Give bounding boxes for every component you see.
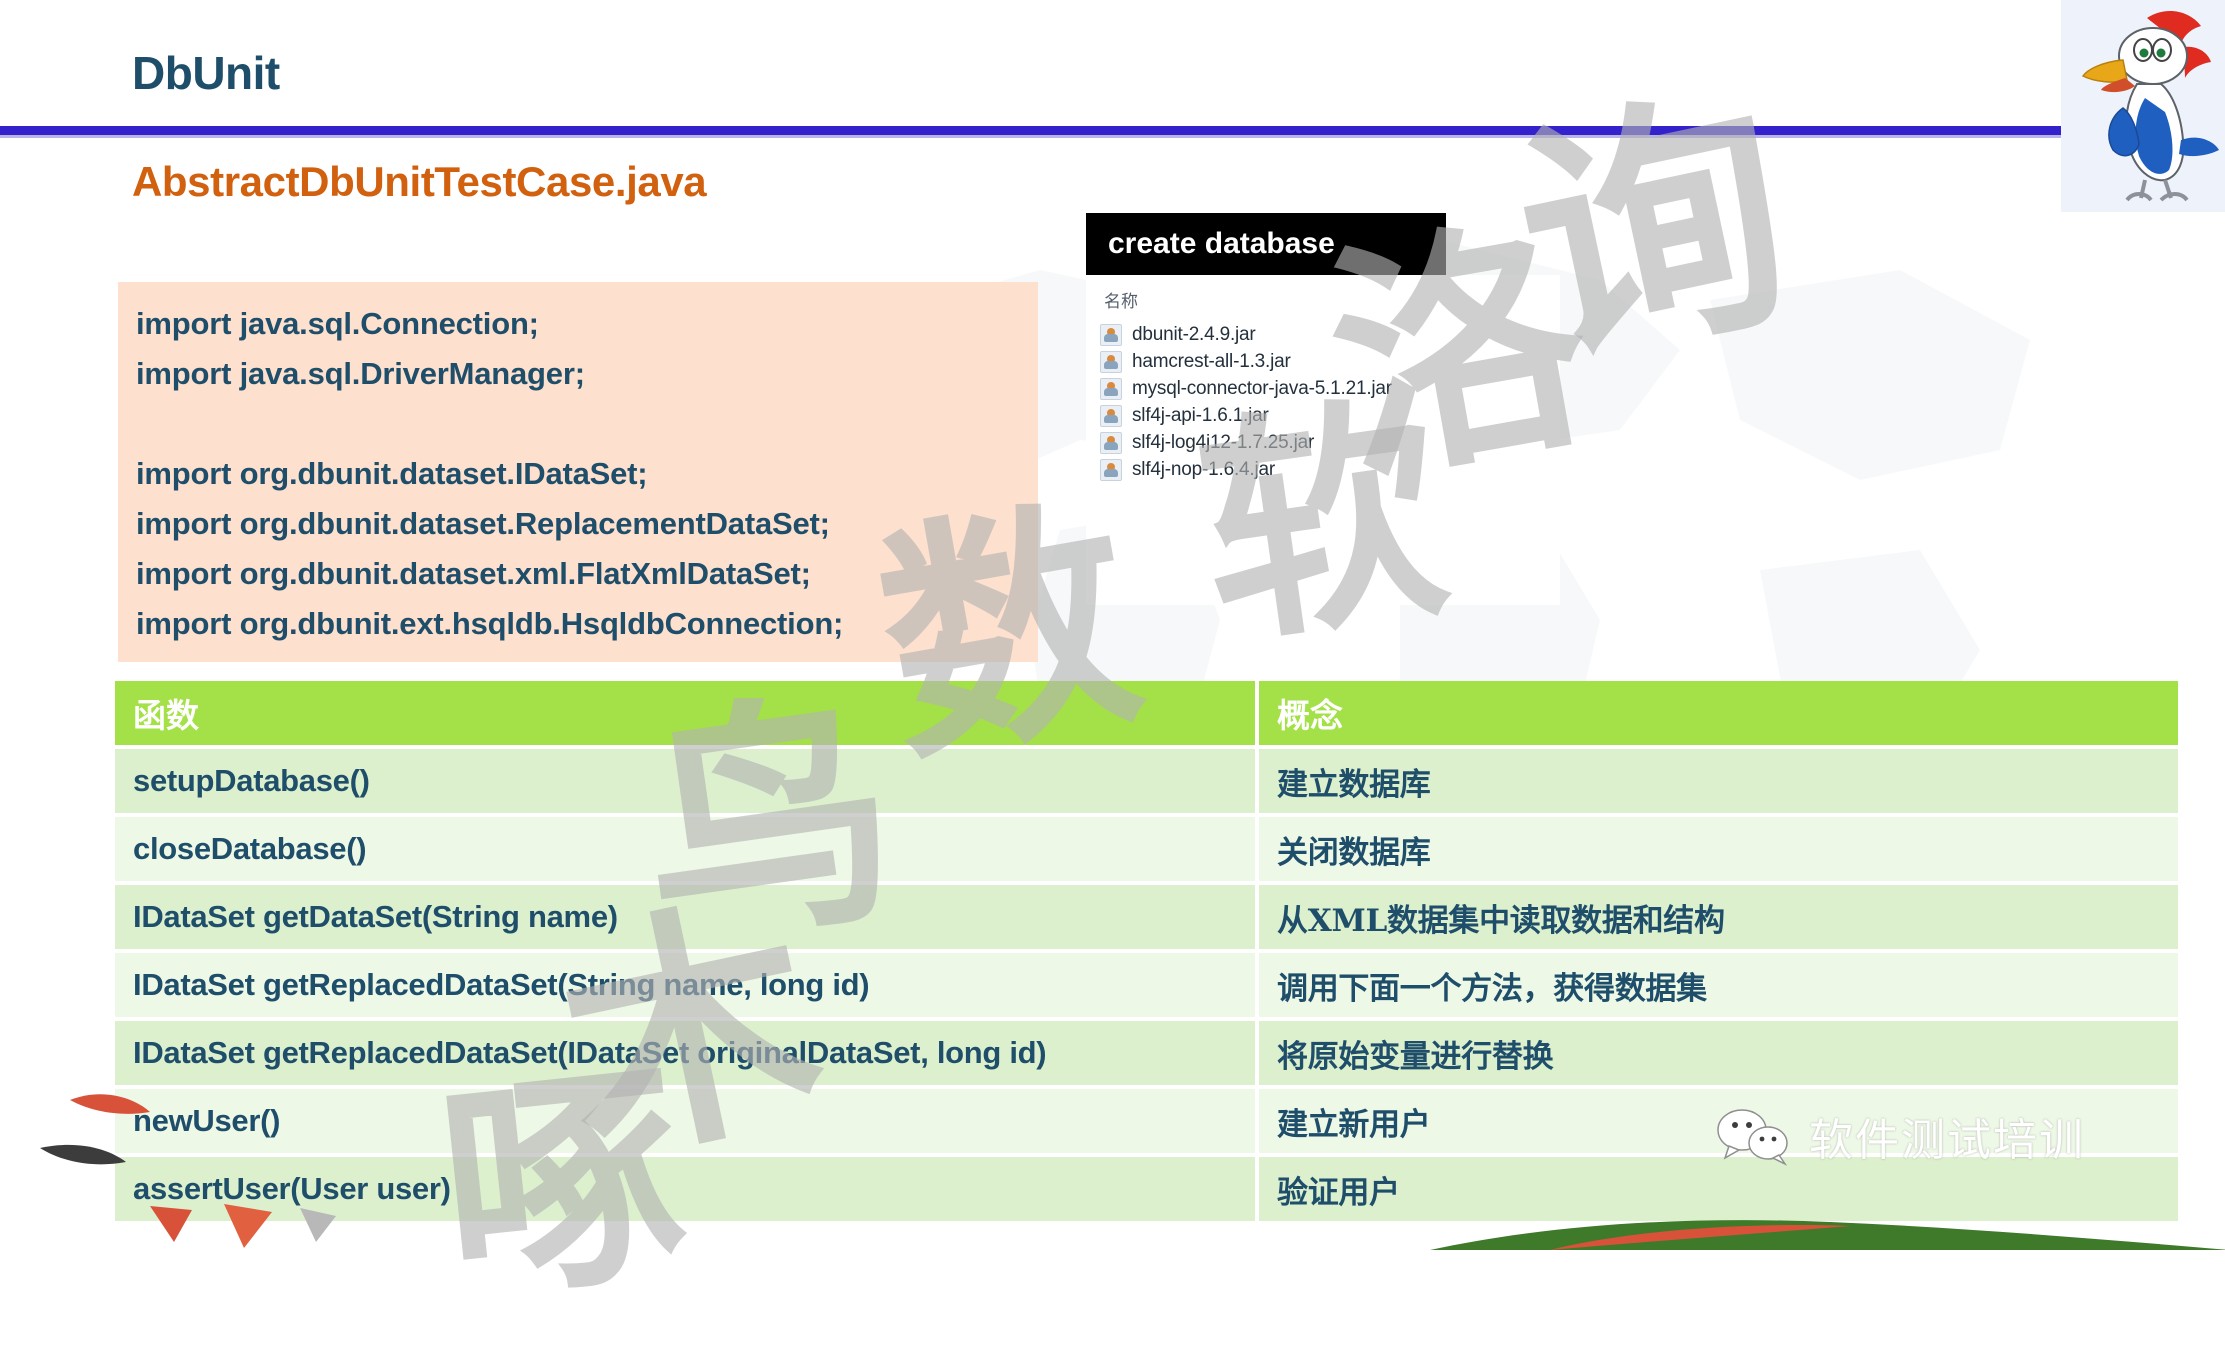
cell-function: setupDatabase() (115, 749, 1255, 817)
list-item[interactable]: mysql-connector-java-5.1.21.jar (1100, 375, 1392, 402)
page-title: DbUnit (132, 46, 280, 100)
file-name: hamcrest-all-1.3.jar (1132, 351, 1291, 373)
table-row: IDataSet getReplacedDataSet(IDataSet ori… (115, 1021, 2178, 1089)
file-name: mysql-connector-java-5.1.21.jar (1132, 378, 1392, 400)
code-line-6: import org.dbunit.dataset.xml.FlatXmlDat… (136, 556, 811, 592)
code-snippet-block: import java.sql.Connection; import java.… (118, 282, 1038, 662)
code-line-4: import org.dbunit.dataset.IDataSet; (136, 456, 647, 492)
cell-concept: 从XML数据集中读取数据和结构 (1255, 885, 2178, 953)
table-row: newUser() 建立新用户 (115, 1089, 2178, 1157)
cell-concept: 建立新用户 (1255, 1089, 2178, 1157)
cell-concept: 调用下面一个方法，获得数据集 (1255, 953, 2178, 1021)
functions-table: 函数 概念 setupDatabase() 建立数据库 closeDatabas… (115, 681, 2178, 1225)
jar-file-icon (1100, 351, 1122, 373)
jar-file-icon (1100, 324, 1122, 346)
title-divider (0, 126, 2084, 135)
table-row: IDataSet getDataSet(String name) 从XML数据集… (115, 885, 2178, 953)
table-header-row: 函数 概念 (115, 681, 2178, 749)
file-name: slf4j-nop-1.6.4.jar (1132, 459, 1275, 481)
list-item[interactable]: slf4j-api-1.6.1.jar (1100, 402, 1269, 429)
cell-function: IDataSet getReplacedDataSet(IDataSet ori… (115, 1021, 1255, 1089)
woodpecker-logo (2061, 0, 2225, 212)
cell-concept: 建立数据库 (1255, 749, 2178, 817)
code-line-2: import java.sql.DriverManager; (136, 356, 585, 392)
cell-concept: 验证用户 (1255, 1157, 2178, 1225)
file-name: slf4j-api-1.6.1.jar (1132, 405, 1269, 427)
title-divider-shadow (0, 135, 2084, 138)
file-name: slf4j-log4j12-1.7.25.jar (1132, 432, 1314, 454)
jar-file-icon (1100, 405, 1122, 427)
list-item[interactable]: slf4j-log4j12-1.7.25.jar (1100, 429, 1314, 456)
cell-function: IDataSet getReplacedDataSet(String name,… (115, 953, 1255, 1021)
table-row: assertUser(User user) 验证用户 (115, 1157, 2178, 1225)
jar-file-icon (1100, 432, 1122, 454)
file-explorer-screenshot: 名称 dbunit-2.4.9.jar hamcrest-all-1.3.jar… (1080, 210, 1560, 610)
cell-concept: 关闭数据库 (1255, 817, 2178, 885)
file-name: dbunit-2.4.9.jar (1132, 324, 1256, 346)
code-line-7: import org.dbunit.ext.hsqldb.HsqldbConne… (136, 606, 843, 642)
table-row: IDataSet getReplacedDataSet(String name,… (115, 953, 2178, 1021)
list-item[interactable]: dbunit-2.4.9.jar (1100, 321, 1256, 348)
create-database-banner: create database (1086, 213, 1446, 275)
table-row: closeDatabase() 关闭数据库 (115, 817, 2178, 885)
cell-function: newUser() (115, 1089, 1255, 1157)
page-subtitle: AbstractDbUnitTestCase.java (132, 158, 706, 206)
list-item[interactable]: hamcrest-all-1.3.jar (1100, 348, 1291, 375)
file-list-column-header: 名称 (1104, 287, 1138, 312)
column-header-function: 函数 (115, 681, 1255, 749)
file-list-panel: 名称 dbunit-2.4.9.jar hamcrest-all-1.3.jar… (1086, 275, 1560, 605)
code-line-1: import java.sql.Connection; (136, 306, 539, 342)
column-header-concept: 概念 (1255, 681, 2178, 749)
jar-file-icon (1100, 378, 1122, 400)
cell-function: IDataSet getDataSet(String name) (115, 885, 1255, 953)
code-line-5: import org.dbunit.dataset.ReplacementDat… (136, 506, 830, 542)
table-row: setupDatabase() 建立数据库 (115, 749, 2178, 817)
cell-function: assertUser(User user) (115, 1157, 1255, 1225)
cell-function: closeDatabase() (115, 817, 1255, 885)
list-item[interactable]: slf4j-nop-1.6.4.jar (1100, 456, 1275, 483)
jar-file-icon (1100, 459, 1122, 481)
cell-concept: 将原始变量进行替换 (1255, 1021, 2178, 1089)
